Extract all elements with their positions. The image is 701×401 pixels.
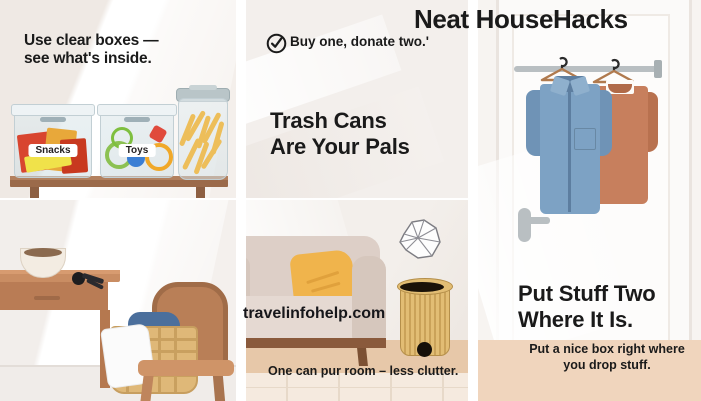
headline-line-1: Put Stuff Two — [518, 281, 656, 307]
clear-box-toys: Toys — [100, 112, 174, 178]
glass-pasta-jar — [178, 98, 228, 180]
trash-can-pedal — [417, 342, 432, 357]
panel-entry-table — [0, 200, 236, 401]
clear-box-snacks: Snacks — [14, 112, 92, 178]
headline-line-1: Trash Cans — [270, 108, 410, 134]
clothes-rod — [514, 66, 660, 72]
shelf-bracket-left — [30, 187, 39, 198]
page-title: Neat HouseHacks — [414, 4, 628, 35]
box-handle — [40, 117, 66, 122]
chair-leg-right — [213, 376, 225, 401]
box-handle — [124, 117, 150, 122]
headline-line-2: see what's inside. — [24, 50, 158, 68]
panel-clear-boxes: Snacks Toys — [0, 0, 236, 198]
crumpled-paper — [398, 218, 442, 260]
shelf-bracket-right — [196, 187, 205, 198]
poster-canvas: Snacks Toys — [0, 0, 701, 401]
headline-line-2: Where It Is. — [518, 307, 656, 333]
headline-line-1: Use clear boxes — — [24, 32, 158, 50]
headline-put-stuff: Put Stuff Two Where It Is. — [518, 281, 656, 333]
door-handle[interactable] — [518, 208, 531, 242]
headline-trash-cans: Trash Cans Are Your Pals — [270, 108, 410, 160]
drawer-pull — [34, 296, 60, 300]
sofa-base — [246, 338, 386, 348]
toy-block-red — [148, 124, 167, 143]
watermark: travelinfohelp.com — [243, 305, 385, 323]
wicker-trash-can — [400, 278, 448, 354]
box-label-snacks: Snacks — [28, 144, 77, 157]
blue-shirt — [534, 74, 604, 214]
kicker-buy-one-donate-two: Buy one, donate two.' — [290, 34, 429, 49]
trash-can-rim — [397, 278, 453, 295]
rod-bracket — [654, 60, 662, 78]
headline-clear-boxes: Use clear boxes — see what's inside. — [24, 32, 158, 69]
box-lid — [11, 104, 95, 116]
subtitle-put-stuff: Put a nice box right where you drop stuf… — [518, 341, 696, 374]
headline-line-2: Are Your Pals — [270, 134, 410, 160]
sofa-arm-right — [352, 256, 386, 342]
box-label-toys: Toys — [119, 144, 156, 157]
box-lid — [97, 104, 177, 116]
check-circle-icon — [266, 33, 287, 54]
caption-one-can: One can pur room – less clutter. — [268, 364, 458, 378]
chair-seat — [138, 360, 234, 376]
